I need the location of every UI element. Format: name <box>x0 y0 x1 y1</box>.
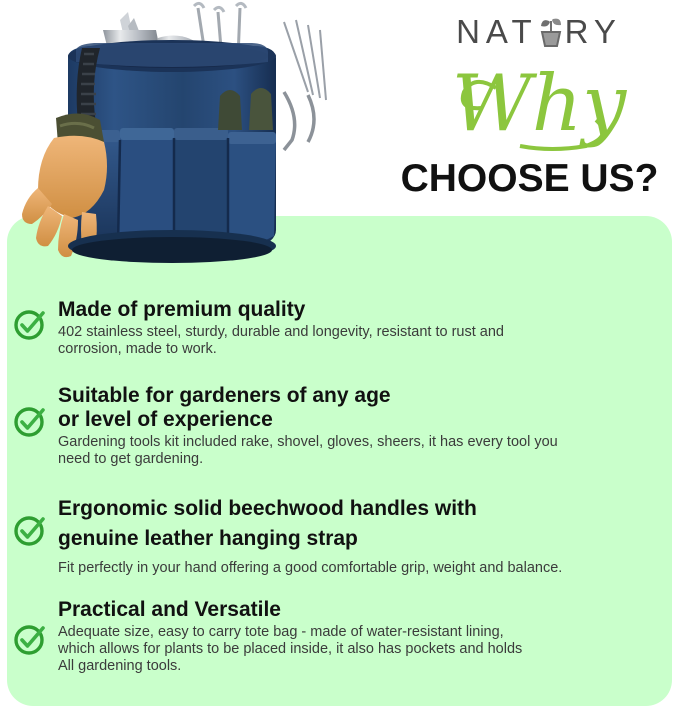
green-check-circle-icon <box>14 298 58 350</box>
brand-name-part1: NAT <box>456 13 538 51</box>
feature-title: Ergonomic solid beechwood handles with g… <box>58 494 674 554</box>
feature-title: Practical and Versatile <box>58 598 674 622</box>
feature-item: Suitable for gardeners of any age or lev… <box>14 384 674 468</box>
feature-body: Gardening tools kit included rake, shove… <box>58 434 674 468</box>
green-check-circle-icon <box>14 384 58 458</box>
feature-item: Ergonomic solid beechwood handles with g… <box>14 494 674 577</box>
feature-title: Suitable for gardeners of any age or lev… <box>58 384 674 432</box>
feature-list: Made of premium quality 402 stainless st… <box>0 216 679 706</box>
feature-item: Made of premium quality 402 stainless st… <box>14 298 674 358</box>
brand-logo: NAT RY <box>408 8 670 56</box>
feature-body: Fit perfectly in your hand offering a go… <box>58 560 674 577</box>
feature-item: Practical and Versatile Adequate size, e… <box>14 598 674 680</box>
script-headline-why: Why <box>400 58 679 153</box>
green-check-circle-icon <box>14 494 58 566</box>
feature-body: 402 stainless steel, sturdy, durable and… <box>58 324 674 358</box>
brand-name-part2: RY <box>565 13 622 51</box>
feature-title: Made of premium quality <box>58 298 674 322</box>
green-check-circle-icon <box>14 598 58 680</box>
feature-body: Adequate size, easy to carry tote bag - … <box>58 624 674 675</box>
page-title: CHOOSE US? <box>380 157 679 201</box>
potted-sprout-icon <box>538 15 565 49</box>
